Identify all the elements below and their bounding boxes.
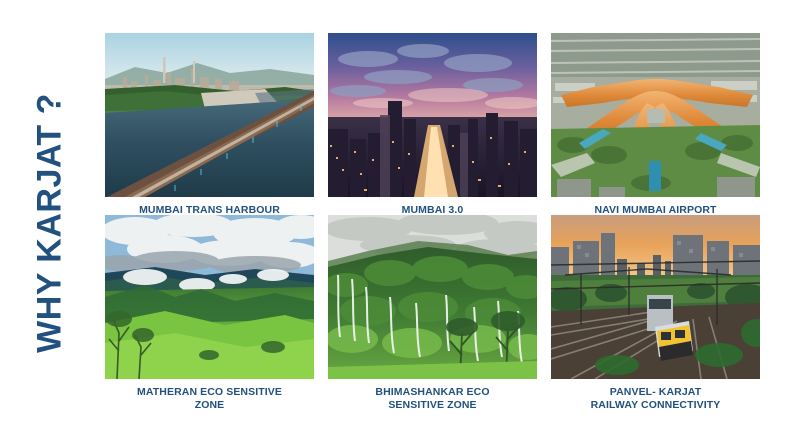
thumbnail-mumbai-3-0[interactable] xyxy=(328,33,537,197)
card-navi-mumbai-airport[interactable]: NAVI MUMBAI AIRPORT xyxy=(551,33,760,203)
caption-line: MATHERAN ECO SENSITIVE xyxy=(105,386,314,399)
image-sea-bridge xyxy=(105,33,314,197)
card-panvel-karjat-railway-connectivity[interactable]: PANVEL- KARJAT RAILWAY CONNECTIVITY xyxy=(551,215,760,385)
caption-matheran-eco-sensitive-zone: MATHERAN ECO SENSITIVE ZONE xyxy=(105,386,314,412)
card-mumbai-trans-harbour-link[interactable]: MUMBAI TRANS HARBOUR LINK (ATAL SETU) xyxy=(105,33,314,203)
thumbnail-bhimashankar-eco-sensitive-zone[interactable] xyxy=(328,215,537,379)
thumbnail-panvel-karjat-railway-connectivity[interactable] xyxy=(551,215,760,379)
image-matheran-valley xyxy=(105,215,314,379)
caption-line: BHIMASHANKAR ECO xyxy=(328,386,537,399)
card-mumbai-3-0[interactable]: MUMBAI 3.0 xyxy=(328,33,537,203)
thumbnail-navi-mumbai-airport[interactable] xyxy=(551,33,760,197)
thumbnail-matheran-eco-sensitive-zone[interactable] xyxy=(105,215,314,379)
slide-title-area: WHY KARJAT ? xyxy=(0,0,100,446)
image-airport-aerial xyxy=(551,33,760,197)
image-city-dusk xyxy=(328,33,537,197)
caption-panvel-karjat-railway-connectivity: PANVEL- KARJAT RAILWAY CONNECTIVITY xyxy=(551,386,760,412)
page-title: WHY KARJAT ? xyxy=(31,93,70,353)
caption-line: SENSITIVE ZONE xyxy=(328,399,537,412)
image-bhimashankar-waterfalls xyxy=(328,215,537,379)
thumbnail-mumbai-trans-harbour-link[interactable] xyxy=(105,33,314,197)
image-local-train xyxy=(551,215,760,379)
image-grid: MUMBAI TRANS HARBOUR LINK (ATAL SETU) xyxy=(105,33,760,433)
caption-line: PANVEL- KARJAT xyxy=(551,386,760,399)
caption-line: RAILWAY CONNECTIVITY xyxy=(551,399,760,412)
caption-line: ZONE xyxy=(105,399,314,412)
card-bhimashankar-eco-sensitive-zone[interactable]: BHIMASHANKAR ECO SENSITIVE ZONE xyxy=(328,215,537,385)
caption-bhimashankar-eco-sensitive-zone: BHIMASHANKAR ECO SENSITIVE ZONE xyxy=(328,386,537,412)
card-matheran-eco-sensitive-zone[interactable]: MATHERAN ECO SENSITIVE ZONE xyxy=(105,215,314,385)
